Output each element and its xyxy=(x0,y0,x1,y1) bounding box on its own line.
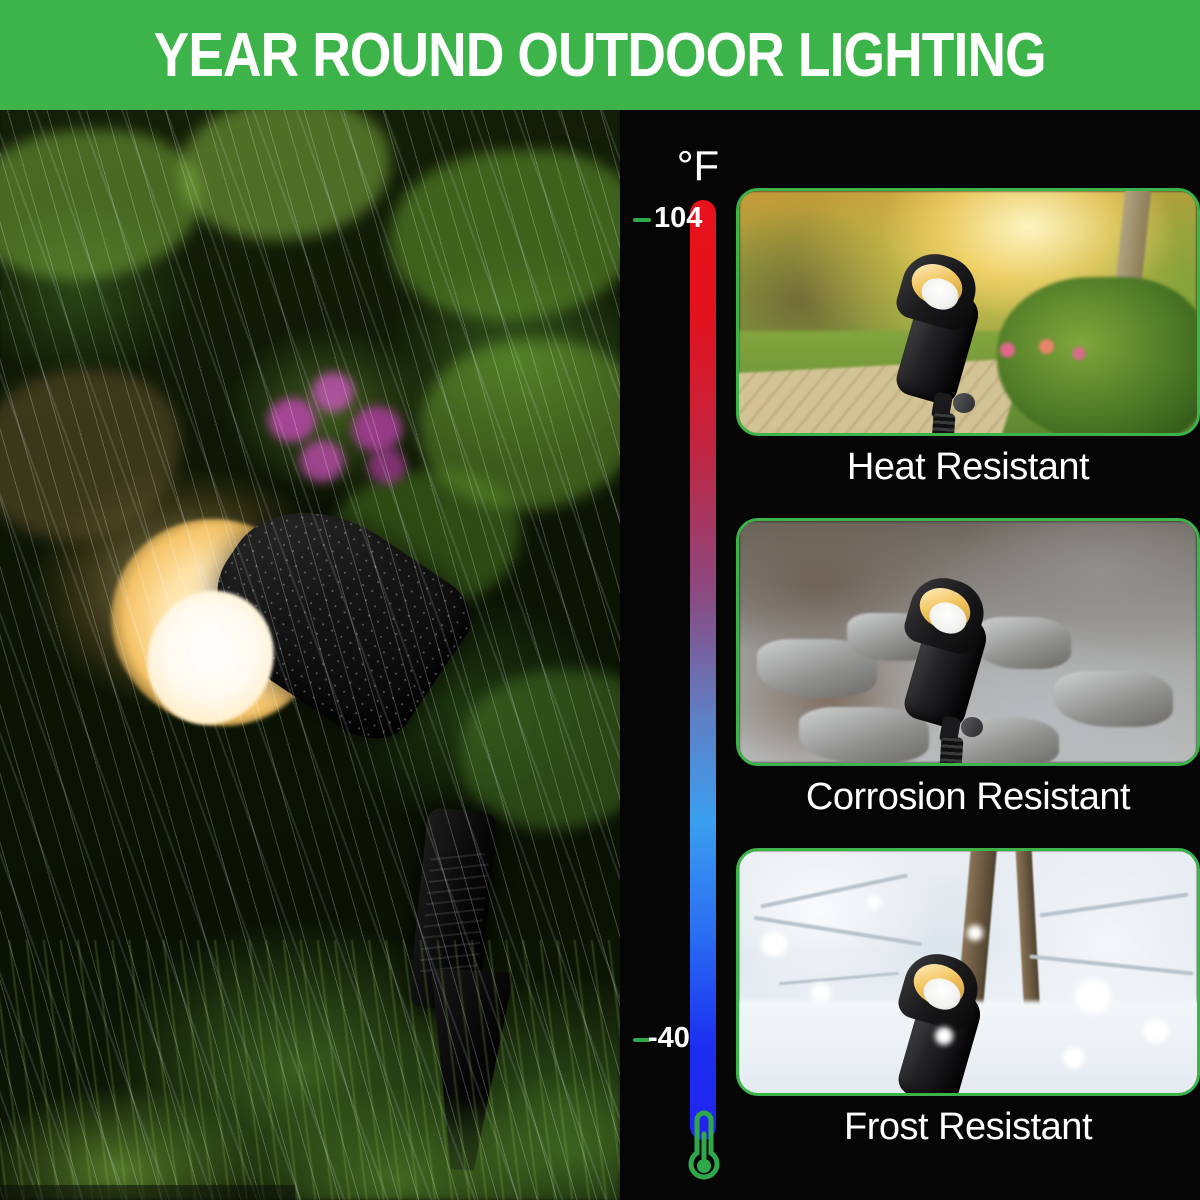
snowflake xyxy=(1143,1019,1169,1043)
right-panel: °F 104 -40 xyxy=(620,110,1200,1200)
snowflake xyxy=(1063,1047,1085,1069)
feature-card-corrosion[interactable]: Corrosion Resistant xyxy=(736,518,1200,819)
snowflake xyxy=(811,983,831,1003)
stone-path xyxy=(736,358,1026,436)
snowflake xyxy=(867,895,881,909)
header-banner: YEAR ROUND OUTDOOR LIGHTING xyxy=(0,0,1200,110)
feature-image-heat xyxy=(736,188,1200,436)
feature-card-frost[interactable]: Frost Resistant xyxy=(736,848,1200,1149)
snowflake xyxy=(935,1027,953,1045)
snowflake xyxy=(761,931,787,957)
rock xyxy=(1055,671,1173,727)
rain-streaks-secondary xyxy=(0,110,620,1200)
temperature-unit-label: °F xyxy=(668,142,728,190)
lamp-coil xyxy=(938,736,963,766)
feature-card-list: Heat Resistant xyxy=(736,110,1200,1200)
flower-bed xyxy=(975,333,1105,367)
rock xyxy=(975,617,1071,669)
ip65-badge: IP65 Waterproof xyxy=(0,1185,295,1200)
tick-mark-high xyxy=(633,218,651,222)
thermometer-icon xyxy=(678,1110,730,1182)
feature-card-heat[interactable]: Heat Resistant xyxy=(736,188,1200,489)
lamp-adjust-knob xyxy=(953,393,975,413)
temperature-gradient-bar xyxy=(690,200,716,1140)
feature-label-frost: Frost Resistant xyxy=(736,1106,1200,1149)
product-feature-graphic: YEAR ROUND OUTDOOR LIGHTING xyxy=(0,0,1200,1200)
lamp-adjust-knob xyxy=(961,717,983,737)
feature-image-corrosion xyxy=(736,518,1200,766)
temperature-high-label: 104 xyxy=(654,202,702,235)
snowflake xyxy=(1075,979,1111,1013)
lamp-coil xyxy=(930,412,955,436)
hero-photo: IP65 Waterproof xyxy=(0,110,620,1200)
snowflake xyxy=(967,925,983,941)
lamp-adjust-knob xyxy=(955,1093,977,1096)
banner-title: YEAR ROUND OUTDOOR LIGHTING xyxy=(154,20,1046,91)
feature-image-frost xyxy=(736,848,1200,1096)
feature-label-heat: Heat Resistant xyxy=(736,446,1200,489)
temperature-low-label: -40 xyxy=(648,1022,690,1055)
feature-label-corrosion: Corrosion Resistant xyxy=(736,776,1200,819)
temperature-scale: °F 104 -40 xyxy=(620,110,736,1200)
